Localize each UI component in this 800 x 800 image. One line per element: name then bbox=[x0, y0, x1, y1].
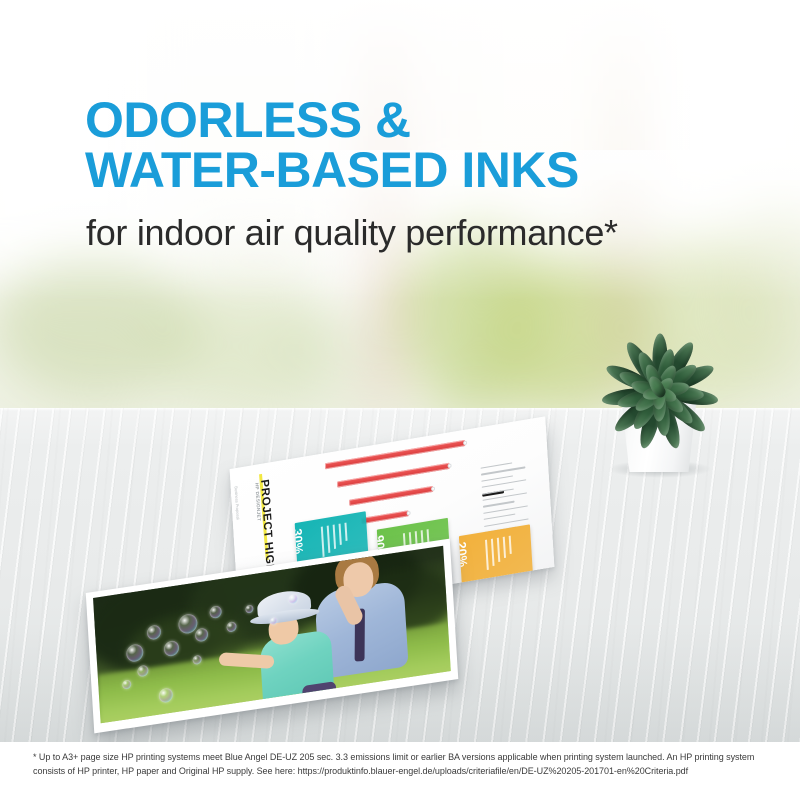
flyer-stat-value: 30% bbox=[295, 528, 306, 555]
potted-succulent bbox=[600, 312, 720, 472]
boy-figure bbox=[243, 582, 359, 708]
flyer-bar bbox=[337, 463, 449, 488]
flyer-corner-label: Business Proposal bbox=[234, 486, 241, 520]
headline: ODORLESS & WATER-BASED INKS bbox=[85, 96, 745, 195]
marketing-image-canvas: Business Proposal HP DESIGNJET PROJECT H… bbox=[0, 0, 800, 800]
flyer-bar bbox=[361, 510, 409, 524]
footnote-text: * Up to A3+ page size HP printing system… bbox=[33, 751, 774, 778]
footnote-band: * Up to A3+ page size HP printing system… bbox=[0, 742, 800, 800]
flyer-bar bbox=[349, 486, 433, 506]
subheadline: for indoor air quality performance* bbox=[86, 214, 766, 252]
flyer-stat-value: 20% bbox=[459, 541, 470, 568]
